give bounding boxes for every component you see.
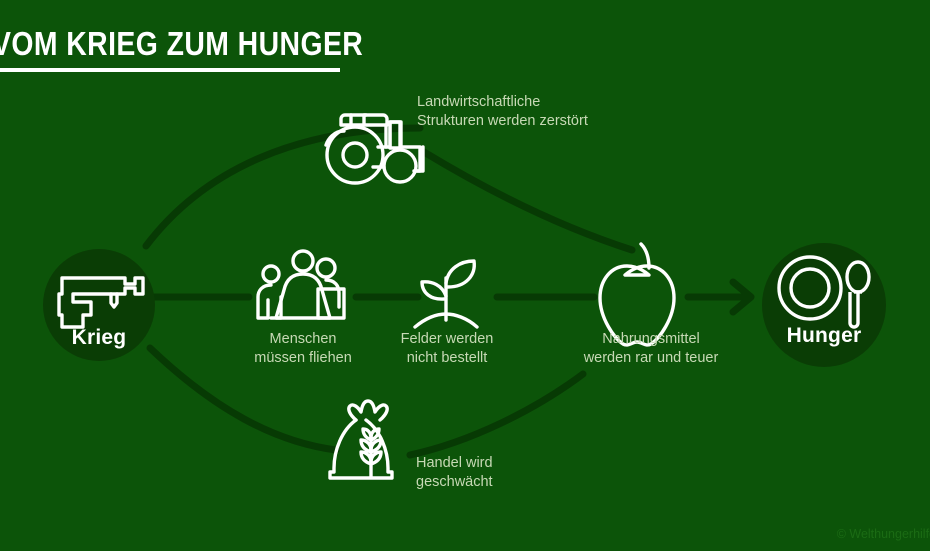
connector-upper-tractor-to-food [424,152,632,250]
node-label-hunger: Hunger [774,324,874,348]
caption-people: Menschen müssen fliehen [233,330,373,368]
copyright-credit: © Welthungerhilfe [837,527,930,541]
node-label-krieg: Krieg [49,326,149,350]
seedling-icon [415,261,477,327]
caption-seedling: Felder werden nicht bestellt [378,330,516,368]
caption-sack: Handel wird geschwächt [416,454,576,492]
infographic-canvas: VOM KRIEG ZUM HUNGER [0,0,930,551]
refugee-family-icon [258,251,344,318]
caption-apple: Nahrungsmittel werden rar und teuer [556,330,746,368]
grain-sack-icon [330,401,392,478]
node-hunger [762,243,886,367]
caption-tractor: Landwirtschaftliche Strukturen werden ze… [417,93,647,131]
connector-lower-sack-to-food [410,374,583,455]
